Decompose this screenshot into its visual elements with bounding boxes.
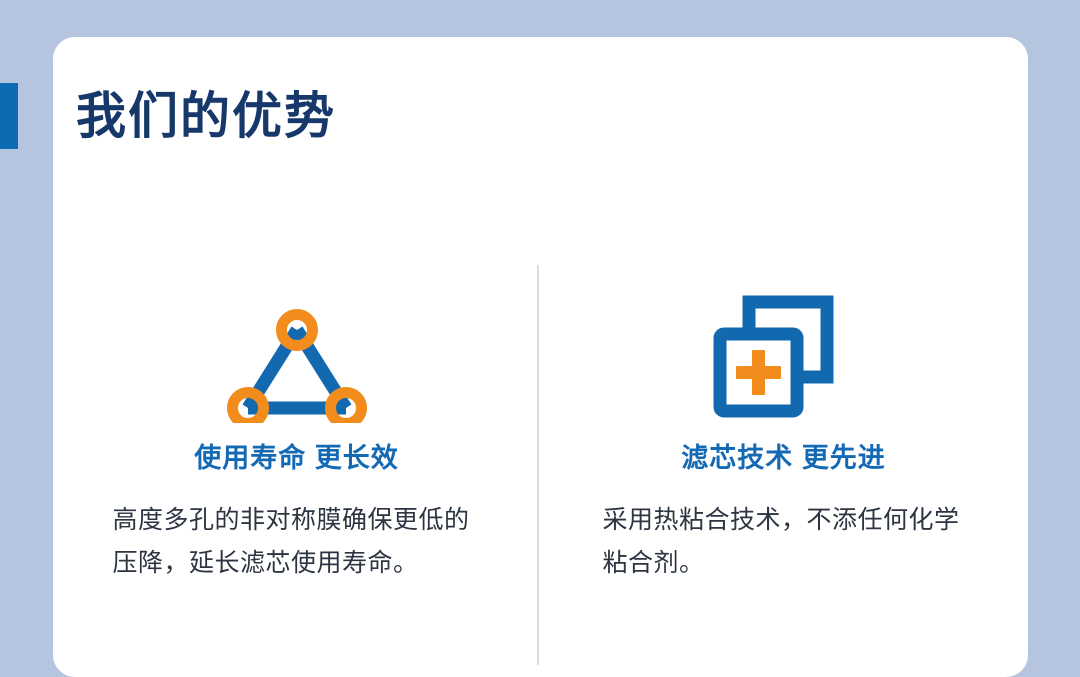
feature-title: 滤芯技术 更先进 <box>681 436 886 475</box>
section-header: 我们的优势 <box>0 83 336 149</box>
feature-title: 使用寿命 更长效 <box>194 436 399 475</box>
feature-description: 高度多孔的非对称膜确保更低的压降，延长滤芯使用寿命。 <box>113 499 483 585</box>
triangle-network-icon <box>222 280 372 430</box>
accent-bar <box>0 83 18 149</box>
feature-item: 滤芯技术 更先进 采用热粘合技术，不添任何化学粘合剂。 <box>540 280 1027 585</box>
feature-list: 使用寿命 更长效 高度多孔的非对称膜确保更低的压降，延长滤芯使用寿命。 滤芯技术… <box>53 280 1028 585</box>
page-title: 我们的优势 <box>76 91 336 141</box>
poster-stage: 我们的优势 使用寿命 更长效 高度多孔的非对称膜确保更低的压降，延长滤芯使用寿命… <box>0 0 1080 660</box>
feature-description: 采用热粘合技术，不添任何化学粘合剂。 <box>603 499 973 585</box>
feature-item: 使用寿命 更长效 高度多孔的非对称膜确保更低的压降，延长滤芯使用寿命。 <box>53 280 540 585</box>
layered-square-plus-icon <box>709 280 859 430</box>
